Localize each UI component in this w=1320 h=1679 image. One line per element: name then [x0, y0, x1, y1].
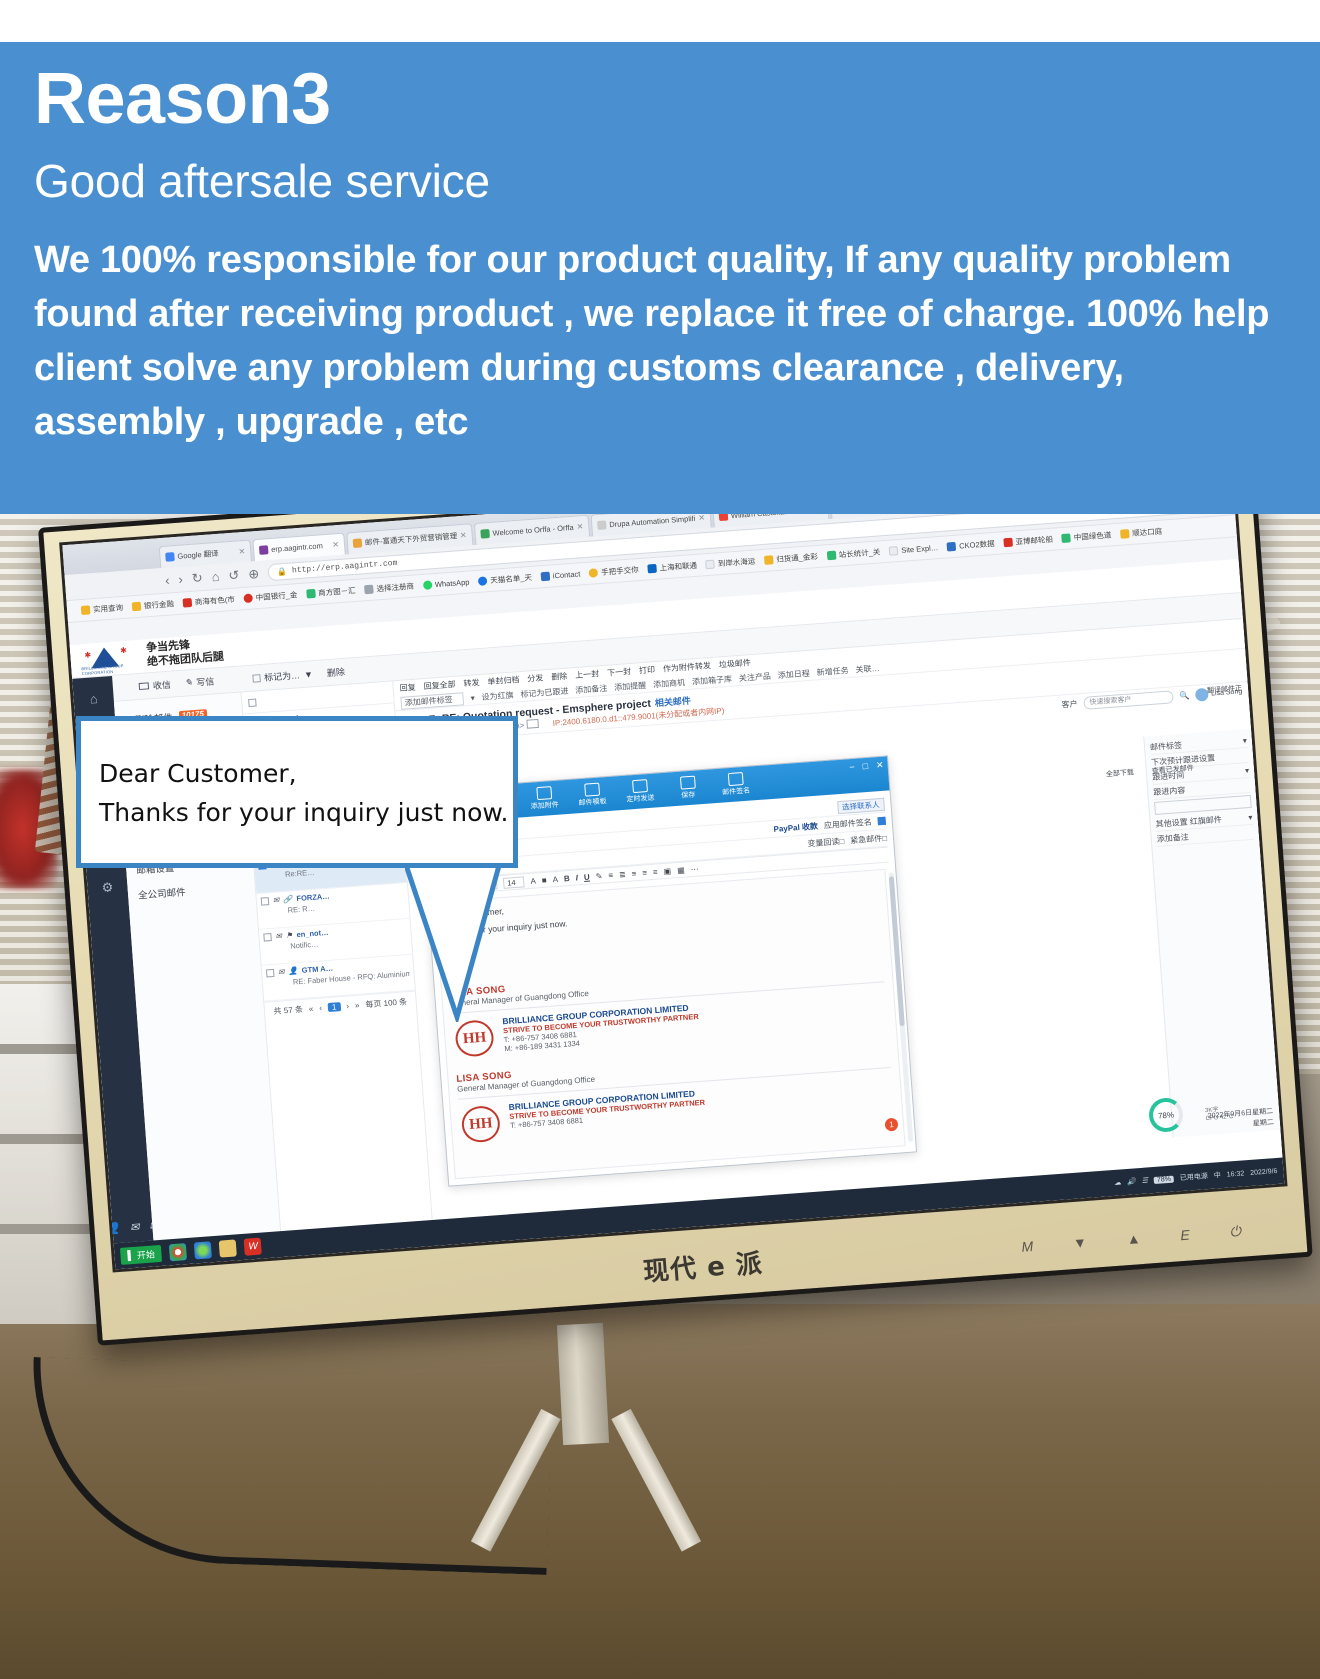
- bookmark-label: WhatsApp: [435, 578, 470, 590]
- apply-signature-checkbox[interactable]: [877, 817, 886, 826]
- forward-icon[interactable]: ›: [178, 572, 183, 587]
- add-attachment-label: 添加附件: [530, 800, 559, 812]
- callout-bubble: Dear Customer, Thanks for your inquiry j…: [76, 716, 518, 868]
- previous-mail-button[interactable]: 上一封: [575, 668, 600, 681]
- bookmark-label: 商海有色(市: [194, 594, 235, 608]
- spam-button[interactable]: 垃圾邮件: [718, 657, 751, 670]
- bookmark-label: Site Expl…: [901, 543, 939, 555]
- compose-mail-button[interactable]: ✎写信: [184, 675, 214, 690]
- bookmark-label: 上海和联通: [659, 560, 697, 574]
- bookmark-label: 天猫名单_天: [490, 572, 532, 586]
- schedule-send-icon: [632, 779, 648, 793]
- italic-icon[interactable]: I: [575, 873, 578, 882]
- browser-icon[interactable]: [194, 1241, 212, 1259]
- tab-favicon: [480, 529, 490, 539]
- monitor-screen: Google 翻译✕ erp.aagintr.com✕ 邮件-富通天下外贸营销管…: [59, 514, 1287, 1273]
- align-left-icon[interactable]: ≡: [631, 869, 636, 878]
- envelope-icon: [139, 682, 149, 690]
- minimize-icon[interactable]: −: [849, 762, 855, 773]
- bookmark-item[interactable]: 手把手交你: [589, 564, 639, 579]
- site-icon: [1062, 533, 1072, 543]
- brand-slogan: 争当先锋 绝不拖团队后腿: [146, 637, 225, 670]
- reply-all-button[interactable]: 回复全部: [423, 679, 456, 692]
- distribute-button[interactable]: 分发: [527, 672, 544, 684]
- brilliance-logo-icon: HH: [452, 1017, 497, 1060]
- bookmark-item[interactable]: 实用查询: [81, 602, 124, 616]
- highlight-icon[interactable]: ■: [542, 875, 547, 884]
- lock-icon: 🔒: [277, 566, 288, 577]
- signature-button[interactable]: 邮件签名: [712, 767, 760, 802]
- tab-favicon: [165, 552, 175, 562]
- close-icon[interactable]: ✕: [876, 760, 884, 772]
- sender-name: en_not…: [296, 928, 329, 939]
- panel-row-label: 跟进内容: [1153, 784, 1186, 797]
- monitor-power-button[interactable]: ⏻: [1229, 1223, 1241, 1241]
- tab-title: William Castellana - Goo: [731, 514, 814, 520]
- more-icon[interactable]: ⋯: [690, 864, 699, 874]
- urgent-mail-option[interactable]: 紧急邮件□: [850, 832, 888, 846]
- add-schedule-button[interactable]: 添加日程: [777, 668, 810, 681]
- bookmark-item[interactable]: 商海有色(市: [182, 594, 235, 609]
- sender-name: FORZA…: [296, 892, 330, 903]
- add-box-library-button[interactable]: 添加箱子库: [692, 674, 733, 688]
- tab-favicon: [597, 520, 607, 530]
- close-icon[interactable]: ✕: [238, 547, 245, 556]
- chevron-down-icon[interactable]: ▾: [1242, 736, 1247, 745]
- image-icon[interactable]: ▣: [663, 866, 671, 876]
- mail-icon[interactable]: ✉: [130, 1220, 140, 1234]
- chevron-down-icon[interactable]: ▾: [470, 693, 475, 702]
- bookmark-label: 选择注册商: [376, 581, 414, 595]
- schedule-send-button[interactable]: 定时发送: [616, 774, 664, 809]
- address-bar-url: http://erp.aagintr.com: [292, 559, 398, 576]
- folder-icon: [132, 602, 142, 612]
- language-indicator[interactable]: 中: [1213, 1170, 1221, 1180]
- office-photo: Google 翻译✕ erp.aagintr.com✕ 邮件-富通天下外贸营销管…: [0, 514, 1320, 1679]
- ordered-list-icon[interactable]: ≡: [608, 870, 613, 879]
- bookmark-item[interactable]: 银行金融: [132, 598, 175, 612]
- bookmark-item[interactable]: 站长统计_关: [826, 546, 880, 561]
- site-icon: [764, 555, 774, 565]
- markas-label: 标记为…: [264, 668, 301, 684]
- monitor-button-e[interactable]: E: [1180, 1227, 1191, 1245]
- bookmark-item[interactable]: 顺达口庭: [1120, 526, 1163, 540]
- delete-label: 删除: [326, 665, 345, 679]
- reload-icon[interactable]: ↻: [191, 570, 203, 587]
- add-attachment-button[interactable]: 添加附件: [520, 781, 568, 816]
- tab-favicon: [259, 545, 269, 555]
- pager-next[interactable]: ›: [346, 1002, 349, 1011]
- close-icon[interactable]: ✕: [332, 540, 339, 549]
- monitor-stand-foot: [420, 1414, 750, 1564]
- align-right-icon[interactable]: ≡: [653, 867, 658, 876]
- site-icon: [589, 568, 599, 578]
- save-button[interactable]: 保存: [664, 770, 712, 805]
- bookmark-item[interactable]: Site Expl…: [889, 543, 939, 556]
- site-icon: [947, 542, 957, 552]
- home-icon[interactable]: ⌂: [211, 569, 220, 585]
- start-button[interactable]: ▌开始: [120, 1244, 163, 1264]
- pager-current-page[interactable]: 1: [328, 1002, 341, 1012]
- tab-title: 邮件-富通天下外贸营销管理: [365, 530, 458, 548]
- callout-line-2: Thanks for your inquiry just now.: [99, 794, 513, 833]
- bookmark-label: 顺达口庭: [1132, 526, 1163, 539]
- close-icon[interactable]: ✕: [460, 531, 467, 540]
- mail-template-button[interactable]: 邮件模板: [568, 777, 616, 812]
- banner-title: Reason3: [34, 62, 1282, 137]
- chrome-icon[interactable]: [169, 1243, 187, 1261]
- monitor-button-m[interactable]: M: [1021, 1238, 1034, 1256]
- bookmark-item[interactable]: iContact: [541, 569, 581, 581]
- text-color-icon[interactable]: A: [530, 876, 536, 885]
- tab-title: erp.aagintr.com: [271, 541, 330, 554]
- back-icon[interactable]: ‹: [165, 573, 170, 588]
- compose-mail-label: 写信: [196, 675, 215, 689]
- linkedin-icon: [647, 564, 657, 574]
- save-label: 保存: [681, 790, 696, 801]
- site-icon: [826, 551, 836, 561]
- add-opportunity-button[interactable]: 添加商机: [653, 677, 686, 690]
- clock-date[interactable]: 2022/9/6: [1250, 1167, 1278, 1176]
- donut-value: 78%: [1158, 1110, 1175, 1120]
- site-icon: [243, 593, 253, 603]
- unordered-list-icon[interactable]: ≣: [619, 869, 626, 878]
- page-icon: [889, 546, 899, 556]
- envelope-icon: ✉: [275, 931, 282, 940]
- delete-button[interactable]: 删除: [551, 671, 568, 683]
- add-reminder-button[interactable]: 添加提醒: [614, 680, 647, 693]
- volume-icon[interactable]: 🔊: [1127, 1177, 1136, 1186]
- site-icon: [306, 589, 316, 599]
- pager-total: 共 57 条: [273, 1004, 303, 1017]
- forward-button[interactable]: 转发: [463, 677, 480, 689]
- bookmark-item[interactable]: 亚博邮轮船: [1003, 534, 1053, 549]
- pager-last[interactable]: »: [355, 1001, 360, 1010]
- bookmark-item[interactable]: WhatsApp: [423, 578, 470, 590]
- chevron-down-icon[interactable]: ▾: [1245, 765, 1250, 774]
- add-icon[interactable]: ⊕: [248, 565, 260, 582]
- pencil-icon: ✎: [184, 677, 192, 689]
- bookmark-item[interactable]: 商方图－汇: [306, 585, 356, 600]
- apply-signature-option[interactable]: 应用邮件签名: [823, 816, 872, 830]
- battery-indicator[interactable]: 78%: [1154, 1175, 1174, 1183]
- related-mail-link[interactable]: 相关邮件: [655, 696, 692, 709]
- mail-application: ✱ ✱ BRILLIANCE GROUP CORPORATION 争当先锋 绝不…: [70, 559, 1283, 1243]
- align-center-icon[interactable]: ≡: [642, 868, 647, 877]
- link-icon: 🔗: [283, 894, 293, 904]
- maximize-icon[interactable]: □: [862, 761, 868, 772]
- clock-time[interactable]: 16:32: [1227, 1170, 1245, 1178]
- network-icon[interactable]: ☰: [1141, 1176, 1148, 1184]
- chevron-down-icon[interactable]: ▼: [304, 669, 314, 680]
- add-note-button[interactable]: 添加备注: [575, 683, 608, 696]
- bookmark-label: 亚博邮轮船: [1015, 534, 1053, 548]
- row-checkbox[interactable]: [263, 933, 272, 942]
- mail-template-icon: [584, 783, 600, 797]
- row-checkbox[interactable]: [266, 968, 275, 977]
- icontact-icon: [541, 572, 551, 582]
- add-attachment-icon: [536, 786, 552, 800]
- folder-label: 全公司邮件: [138, 884, 186, 901]
- site-icon: [183, 598, 193, 608]
- computer-monitor: Google 翻译✕ erp.aagintr.com✕ 邮件-富通天下外贸营销管…: [38, 514, 1313, 1346]
- folder-icon: [81, 605, 91, 615]
- eraser-icon[interactable]: ✎: [595, 871, 602, 880]
- flag-icon[interactable]: ⚑: [285, 930, 292, 939]
- banner-body-text: We 100% responsible for our product qual…: [34, 234, 1282, 450]
- pick-contact-button[interactable]: 选择联系人: [837, 797, 885, 813]
- windows-icon: ▌: [127, 1250, 134, 1260]
- customer-label: 客户: [1061, 698, 1078, 710]
- variable-group-option[interactable]: 变量回读□: [807, 835, 845, 849]
- panel-title: 邮件标签: [1150, 739, 1183, 752]
- print-button[interactable]: 打印: [639, 664, 656, 676]
- mail-template-label: 邮件模板: [578, 796, 607, 808]
- history-icon[interactable]: ↺: [228, 567, 240, 584]
- bold-icon[interactable]: B: [564, 874, 570, 883]
- pager-prev[interactable]: ‹: [319, 1004, 322, 1013]
- bookmark-item[interactable]: CKO2数据: [947, 538, 995, 552]
- signature-label: 邮件签名: [722, 786, 751, 798]
- bookmark-label: 实用查询: [93, 602, 124, 615]
- close-icon[interactable]: ✕: [698, 514, 705, 523]
- site-icon: [478, 576, 488, 586]
- bookmark-item[interactable]: 到岸水海运: [706, 556, 756, 571]
- archive-button[interactable]: 单封归档: [487, 674, 520, 687]
- sender-name: GTM A…: [301, 964, 333, 975]
- folder-icon[interactable]: [219, 1239, 237, 1257]
- battery-note: 已用电源: [1180, 1171, 1209, 1183]
- bookmark-item[interactable]: 选择注册商: [364, 581, 414, 596]
- bookmark-label: 到岸水海运: [718, 556, 756, 570]
- schedule-send-label: 定时发送: [626, 793, 655, 805]
- tab-favicon: [353, 538, 363, 548]
- bookmark-label: 手把手交你: [601, 564, 639, 578]
- signature-icon: [727, 772, 743, 786]
- logo-caption: BRILLIANCE GROUP CORPORATION: [81, 662, 138, 676]
- tab-favicon: [719, 514, 729, 521]
- bookmark-label: CKO2数据: [959, 538, 995, 552]
- monitor-brand-label: 现代 e 派: [642, 1242, 764, 1288]
- row-checkbox[interactable]: [261, 897, 270, 906]
- bookmark-label: 商方图－汇: [318, 585, 356, 599]
- background-color-icon[interactable]: A: [552, 874, 558, 883]
- tab-title: Welcome to Orffa - Orffa: [492, 523, 574, 538]
- start-label: 开始: [136, 1247, 155, 1261]
- home-icon[interactable]: ⌂: [89, 691, 98, 707]
- bookmark-label: 站长统计_关: [838, 546, 880, 560]
- bookmark-item[interactable]: 上海和联通: [647, 560, 697, 575]
- download-all-label[interactable]: 全部下载: [1106, 767, 1135, 779]
- table-icon[interactable]: ▦: [677, 865, 685, 875]
- underline-icon[interactable]: U: [584, 872, 590, 881]
- site-icon: [1120, 529, 1130, 539]
- site-icon: [1003, 538, 1013, 548]
- next-mail-button[interactable]: 下一封: [607, 666, 632, 679]
- bookmark-label: 中国银行_金: [255, 589, 297, 603]
- bookmark-item[interactable]: 中国绿色道: [1061, 529, 1111, 544]
- page-icon: [706, 560, 716, 570]
- reply-button[interactable]: 回复: [399, 682, 416, 694]
- callout-line-1: Dear Customer,: [99, 755, 513, 794]
- person-icon: 👤: [288, 966, 298, 976]
- save-icon: [679, 776, 695, 790]
- settings-icon[interactable]: ⚙: [101, 879, 114, 896]
- bookmark-item[interactable]: 中国银行_金: [243, 589, 297, 604]
- search-input[interactable]: 快速搜索客户: [1083, 690, 1174, 710]
- pager-first[interactable]: «: [309, 1004, 314, 1013]
- tab-title: Google 翻译: [177, 547, 236, 562]
- monitor-button-up[interactable]: ▲: [1126, 1230, 1141, 1248]
- wps-icon[interactable]: W: [244, 1237, 262, 1255]
- checkbox-icon[interactable]: [252, 674, 261, 683]
- bookmark-label: 中国绿色道: [1073, 529, 1111, 543]
- brilliance-logo-icon: HH: [458, 1103, 503, 1146]
- search-icon[interactable]: 🔍: [1179, 691, 1190, 701]
- bookmark-label: iContact: [553, 569, 581, 580]
- chevron-down-icon[interactable]: ▾: [1248, 812, 1253, 821]
- select-all-checkbox[interactable]: [248, 698, 257, 707]
- bookmark-item[interactable]: 归货通_金彩: [764, 551, 818, 566]
- set-flag-button[interactable]: 设为红旗: [481, 690, 514, 703]
- whatsapp-icon: [423, 580, 433, 590]
- system-tray: ☁ 🔊 ☰ 78% 已用电源 中 16:32 2022/9/6: [1114, 1166, 1278, 1188]
- paypal-label: PayPal 收款: [773, 820, 818, 834]
- banner-subtitle: Good aftersale service: [34, 155, 1282, 208]
- mail-read-pane: 客户 快速搜索客户 🔍 Lisa Song 回复 回复全部 转发 单封归档: [393, 619, 1282, 1220]
- delete-button[interactable]: 删除: [326, 665, 345, 679]
- rail-bottom-icons: 👤 ✉ ✉: [106, 1219, 159, 1236]
- link-button[interactable]: 关联…: [855, 663, 880, 676]
- mark-followed-button[interactable]: 标记为已跟进: [520, 686, 569, 700]
- company-logo-icon: ✱ ✱ BRILLIANCE GROUP CORPORATION: [80, 643, 138, 675]
- panel-row-label: 添加备注: [1156, 831, 1189, 844]
- bookmark-label: 银行金融: [144, 598, 175, 611]
- onedrive-icon[interactable]: ☁: [1114, 1178, 1122, 1186]
- callout-tail: [405, 862, 525, 1022]
- follow-product-button[interactable]: 关注产品: [739, 671, 772, 684]
- receive-mail-label: 收信: [152, 678, 171, 692]
- callout-text: Dear Customer, Thanks for your inquiry j…: [81, 721, 513, 833]
- country-flag-icon: [526, 719, 539, 729]
- bookmark-item[interactable]: 天猫名单_天: [478, 572, 532, 587]
- monitor-button-down[interactable]: ▼: [1072, 1234, 1087, 1252]
- envelope-icon: ✉: [278, 967, 285, 976]
- reason-banner: Reason3 Good aftersale service We 100% r…: [0, 42, 1320, 514]
- bookmark-label: 归货通_金彩: [776, 551, 818, 565]
- tab-title: Drupa Automation Simplifi: [609, 514, 696, 529]
- envelope-icon: ✉: [273, 895, 280, 904]
- forward-as-attachment-button[interactable]: 作为附件转发: [663, 660, 712, 674]
- receive-mail-button[interactable]: 收信: [138, 678, 171, 693]
- monitor-buttons: M ▼ ▲ E ⏻: [1021, 1223, 1241, 1256]
- close-icon[interactable]: ✕: [576, 522, 583, 531]
- site-icon: [364, 585, 374, 595]
- pager-per-page[interactable]: 每页 100 条: [365, 996, 407, 1010]
- markas-button[interactable]: 标记为…▼: [252, 667, 314, 684]
- add-task-button[interactable]: 新增任务: [816, 665, 849, 678]
